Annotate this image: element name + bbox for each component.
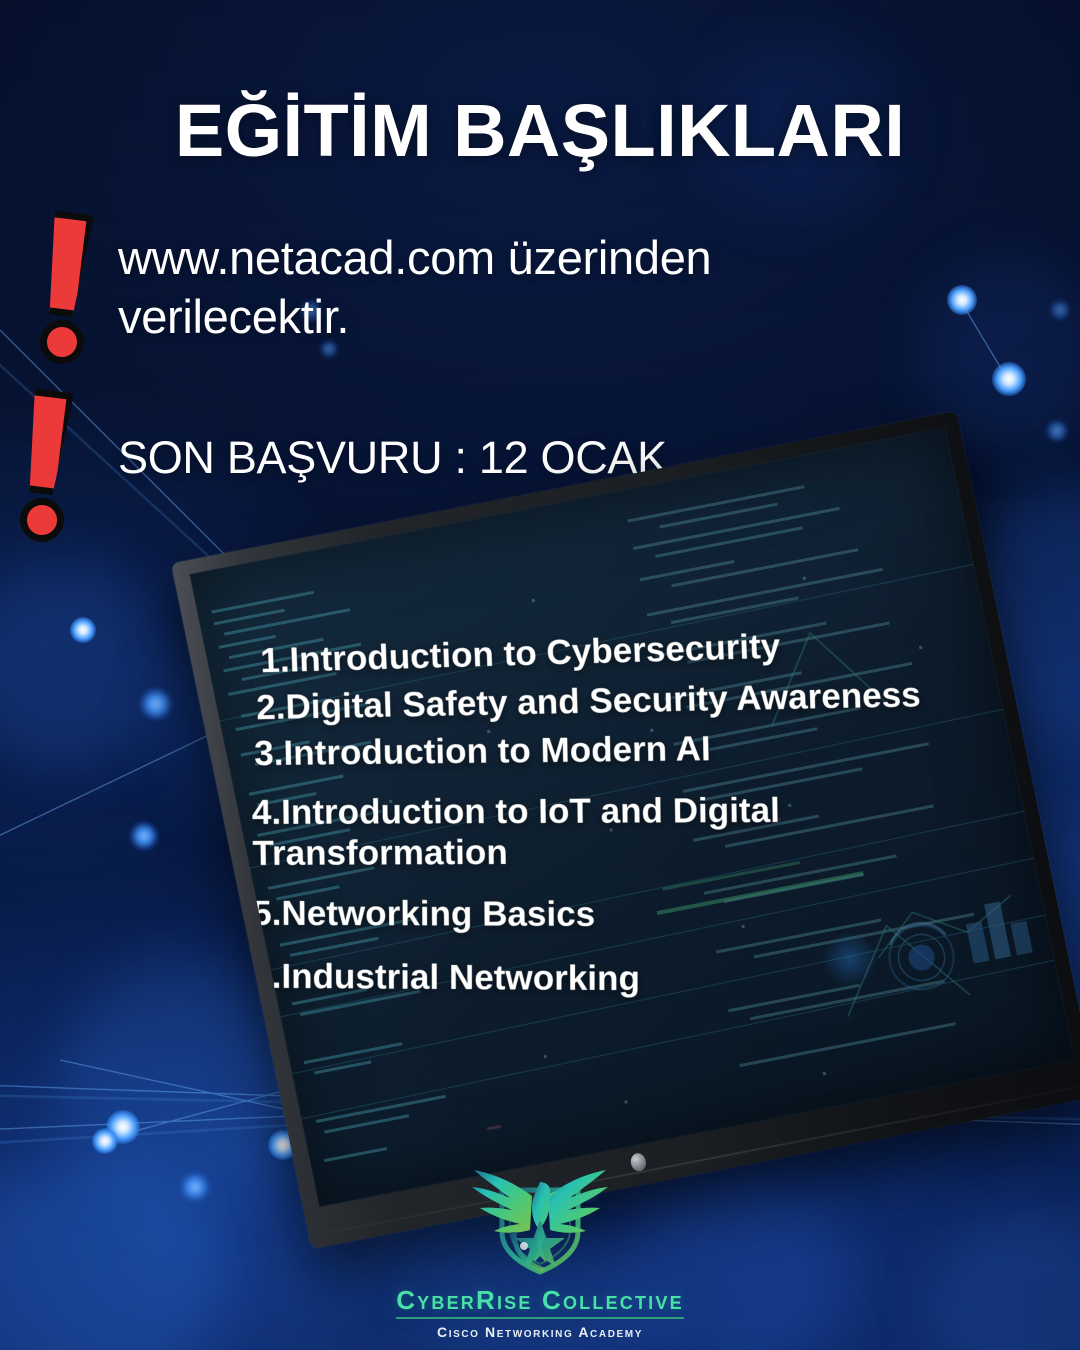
network-node <box>1046 420 1068 442</box>
phoenix-shield-star-icon <box>452 1160 628 1285</box>
network-node <box>70 617 96 643</box>
exclamation-bar <box>16 388 74 497</box>
course-item: 6.Industrial Networking <box>252 956 1014 1002</box>
logo-block: CyberRise Collective Cisco Networking Ac… <box>0 1160 1080 1340</box>
netacad-info-text: www.netacad.com üzerinden verilecektir. <box>118 228 948 346</box>
brand-name: CyberRise Collective <box>396 1287 684 1319</box>
network-node <box>1050 300 1070 320</box>
exclamation-dot <box>40 320 84 364</box>
monitor: 1.Introduction to Cybersecurity 2.Digita… <box>171 411 1080 1249</box>
course-item: 3.Introduction to Modern AI <box>254 726 1014 775</box>
network-node <box>992 362 1026 396</box>
network-node <box>92 1128 118 1154</box>
monitor-bezel: 1.Introduction to Cybersecurity 2.Digita… <box>171 411 1080 1249</box>
poster-canvas: EĞİTİM BAŞLIKLARI www.netacad.com üzerin… <box>0 0 1080 1350</box>
network-node <box>130 822 158 850</box>
network-node <box>106 1110 140 1144</box>
monitor-screen: 1.Introduction to Cybersecurity 2.Digita… <box>189 427 1075 1207</box>
exclamation-bar <box>36 210 94 319</box>
bokeh-blob <box>0 560 170 770</box>
course-item: 4.Introduction to IoT and Digital Transf… <box>252 791 814 874</box>
page-title: EĞİTİM BAŞLIKLARI <box>0 94 1080 168</box>
network-node <box>947 285 977 315</box>
exclamation-dot <box>20 498 64 542</box>
network-node <box>140 688 172 720</box>
course-list: 1.Introduction to Cybersecurity 2.Digita… <box>252 641 1014 1004</box>
course-item: 5.Networking Basics <box>252 894 1014 937</box>
brand-subtitle: Cisco Networking Academy <box>437 1324 643 1340</box>
course-item: 2.Digital Safety and Security Awareness <box>256 673 1014 728</box>
